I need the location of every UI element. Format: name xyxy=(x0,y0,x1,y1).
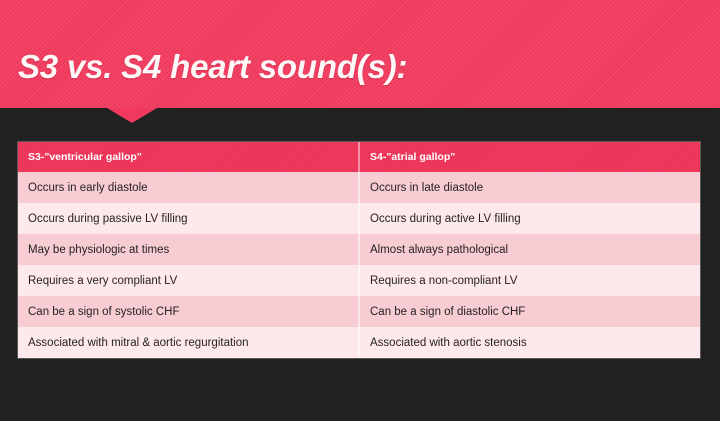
cell-s4: Almost always pathological xyxy=(359,234,700,265)
cell-s4: Occurs in late diastole xyxy=(359,172,700,203)
comparison-table-container: S3-"ventricular gallop" S4-"atrial gallo… xyxy=(18,142,700,358)
slide-canvas: S3 vs. S4 heart sound(s): S3-"ventricula… xyxy=(0,0,720,421)
cell-s3: May be physiologic at times xyxy=(18,234,359,265)
table-row: Can be a sign of systolic CHF Can be a s… xyxy=(18,296,700,327)
cell-s4: Can be a sign of diastolic CHF xyxy=(359,296,700,327)
cell-s4: Requires a non-compliant LV xyxy=(359,265,700,296)
column-header-s4: S4-"atrial gallop" xyxy=(359,142,700,172)
table-row: Associated with mitral & aortic regurgit… xyxy=(18,327,700,358)
table-row: Requires a very compliant LV Requires a … xyxy=(18,265,700,296)
comparison-table: S3-"ventricular gallop" S4-"atrial gallo… xyxy=(18,142,700,358)
banner-notch-triangle xyxy=(107,108,157,123)
table-row: May be physiologic at times Almost alway… xyxy=(18,234,700,265)
table-row: Occurs in early diastole Occurs in late … xyxy=(18,172,700,203)
cell-s4: Associated with aortic stenosis xyxy=(359,327,700,358)
table-header-row: S3-"ventricular gallop" S4-"atrial gallo… xyxy=(18,142,700,172)
cell-s3: Can be a sign of systolic CHF xyxy=(18,296,359,327)
table-row: Occurs during passive LV filling Occurs … xyxy=(18,203,700,234)
cell-s3: Occurs in early diastole xyxy=(18,172,359,203)
page-title: S3 vs. S4 heart sound(s): xyxy=(18,48,407,86)
cell-s3: Occurs during passive LV filling xyxy=(18,203,359,234)
table-body: Occurs in early diastole Occurs in late … xyxy=(18,172,700,358)
table-header: S3-"ventricular gallop" S4-"atrial gallo… xyxy=(18,142,700,172)
column-header-s3: S3-"ventricular gallop" xyxy=(18,142,359,172)
cell-s4: Occurs during active LV filling xyxy=(359,203,700,234)
title-banner: S3 vs. S4 heart sound(s): xyxy=(0,0,720,108)
cell-s3: Associated with mitral & aortic regurgit… xyxy=(18,327,359,358)
cell-s3: Requires a very compliant LV xyxy=(18,265,359,296)
